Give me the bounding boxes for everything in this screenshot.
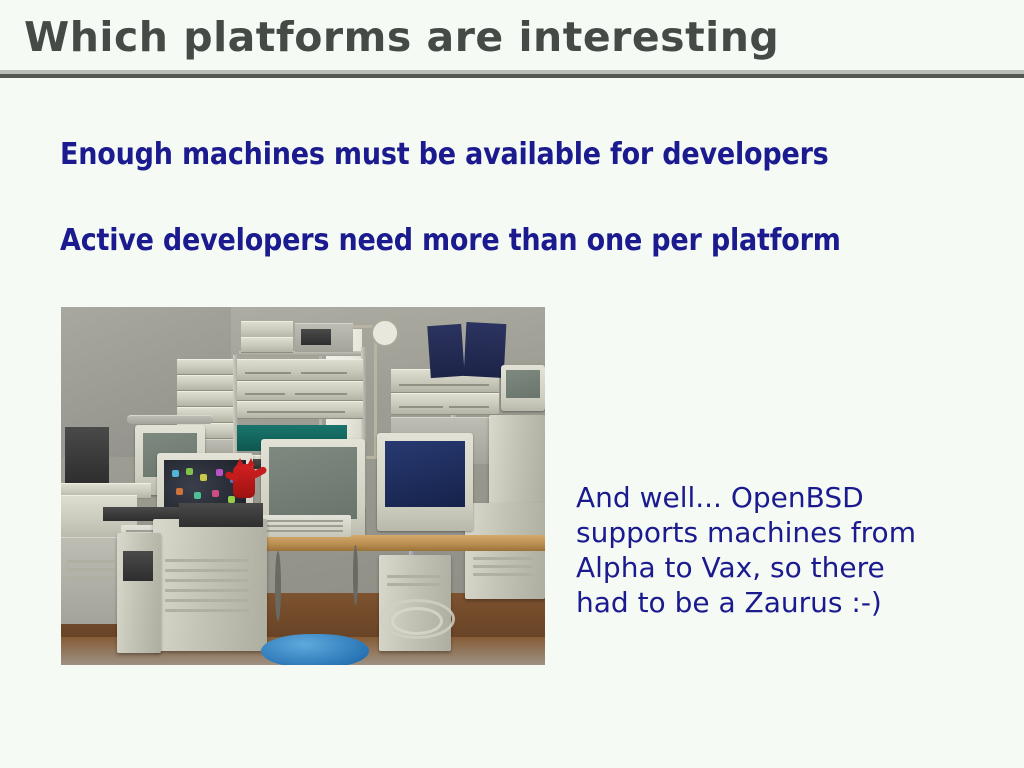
drive-bay — [123, 551, 153, 581]
rack-device — [241, 337, 293, 353]
caption-line-4: had to be a Zaurus :-) — [576, 585, 976, 620]
rack-device — [237, 381, 363, 401]
slide-header: Which platforms are interesting — [0, 0, 1024, 80]
caption-line-1: And well... OpenBSD — [576, 480, 976, 515]
crt-monitor — [377, 433, 473, 531]
crt-screen — [269, 447, 357, 519]
navy-panel — [427, 324, 465, 378]
blue-stool — [261, 634, 369, 665]
tower-case — [153, 519, 267, 651]
dark-monitor — [65, 427, 109, 483]
cable — [353, 545, 358, 605]
caption-line-2: supports machines from — [576, 515, 976, 550]
plush-horn — [247, 458, 255, 466]
title-divider — [0, 70, 1024, 79]
tower-case — [465, 503, 545, 599]
crt-screen — [385, 441, 465, 507]
monitor-stand — [127, 415, 213, 424]
rack-device — [177, 375, 233, 391]
rack-device — [237, 359, 363, 381]
bullet-line-2: Active developers need more than one per… — [60, 223, 841, 258]
bullet-line-1: Enough machines must be available for de… — [60, 137, 829, 172]
rack-device-screen — [301, 329, 331, 345]
navy-panel — [464, 322, 507, 378]
side-caption: And well... OpenBSD supports machines fr… — [576, 480, 976, 620]
wall-clock-icon — [371, 319, 399, 347]
cable — [275, 551, 281, 621]
rack-device — [391, 393, 499, 415]
rack-device — [177, 359, 233, 375]
computer-room-photo — [61, 307, 545, 665]
page-title: Which platforms are interesting — [24, 12, 779, 62]
rack-device — [177, 391, 233, 407]
divider-dark-band — [0, 74, 1024, 78]
desk-device — [179, 503, 263, 527]
plush-horn — [236, 458, 244, 466]
caption-line-3: Alpha to Vax, so there — [576, 550, 976, 585]
rack-device — [237, 401, 363, 419]
cable-coil — [391, 607, 443, 635]
crt-monitor — [501, 365, 545, 411]
